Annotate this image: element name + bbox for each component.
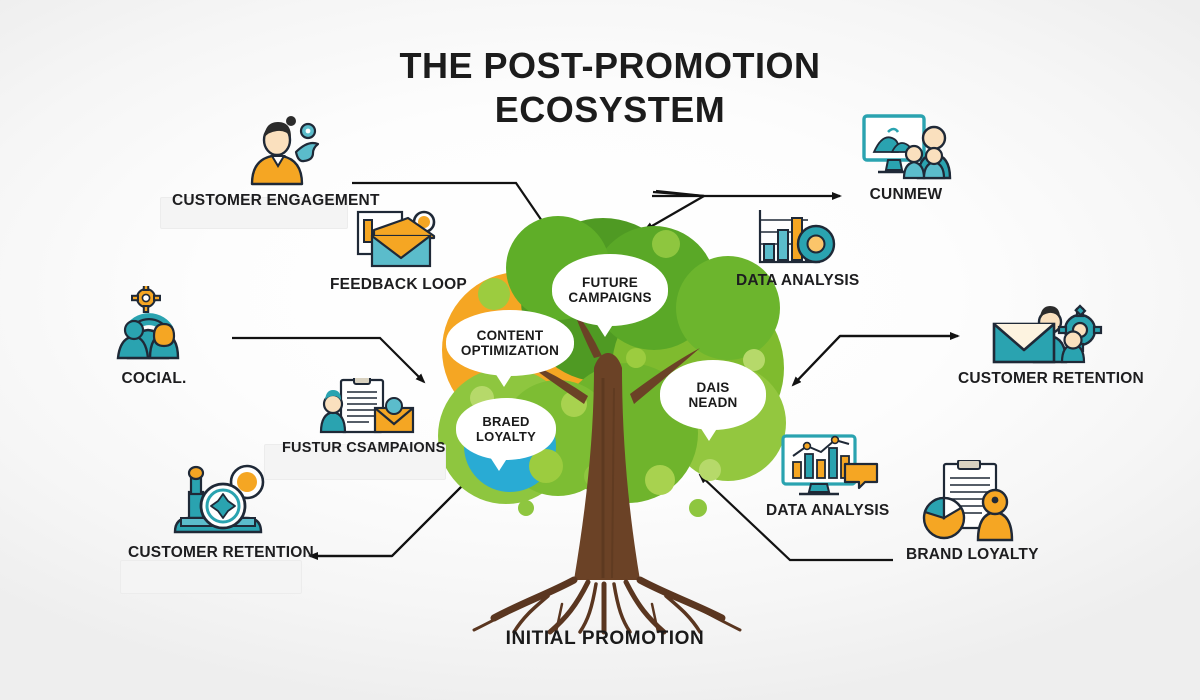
node-label: CUNMEW: [870, 186, 943, 204]
envelope-search-icon: [350, 208, 446, 272]
clipboard-mail-icon: [299, 378, 429, 436]
node-future-campaigns[interactable]: FUSTUR CSAMPAIONS: [282, 378, 445, 456]
node-data-analysis-bottom[interactable]: DATA ANALYSIS: [766, 434, 889, 520]
arrow-tree-to-cunmew: [652, 188, 840, 197]
node-label: CUSTOMER RETENTION: [128, 544, 314, 562]
bubble-brand-loyalty: BRAED LOYALTY: [456, 398, 556, 460]
node-brand-loyalty[interactable]: BRAND LOYALTY: [906, 460, 1039, 564]
node-label: DATA ANALYSIS: [766, 502, 889, 520]
people-gear-icon: [106, 286, 202, 366]
bubble-data-needs: DAIS NEADN: [660, 360, 766, 430]
ghost-panel: [120, 560, 302, 594]
node-customer-retention-right[interactable]: CUSTOMER RETENTION: [958, 300, 1144, 388]
node-label: FUSTUR CSAMPAIONS: [282, 440, 445, 456]
node-label: COCIAL.: [121, 370, 186, 388]
person-social-icon: [228, 112, 324, 188]
node-label: CUSTOMER RETENTION: [958, 370, 1144, 388]
node-label: BRAND LOYALTY: [906, 546, 1039, 564]
node-customer-retention-left[interactable]: CUSTOMER RETENTION: [128, 462, 314, 562]
node-feedback-loop[interactable]: FEEDBACK LOOP: [330, 208, 467, 294]
infographic-canvas: THE POST-PROMOTION ECOSYSTEM: [0, 0, 1200, 700]
monitor-chart-cursor-icon: [773, 434, 883, 498]
page-title: THE POST-PROMOTION ECOSYSTEM: [330, 44, 890, 132]
node-data-analysis-top[interactable]: DATA ANALYSIS: [736, 206, 859, 290]
initial-promotion-label: INITIAL PROMOTION: [440, 628, 770, 650]
node-label: FEEDBACK LOOP: [330, 276, 467, 294]
arrow-cocial-to-tree: [232, 338, 424, 382]
bubble-future-campaigns: FUTURE CAMPAIGNS: [552, 254, 668, 326]
bubble-content-optimization: CONTENT OPTIMIZATION: [446, 310, 574, 376]
mail-people-gear-icon: [976, 300, 1126, 366]
node-customer-engagement[interactable]: CUSTOMER ENGAGEMENT: [172, 112, 380, 210]
bar-chart-donut-icon: [750, 206, 846, 268]
machine-magnifier-icon: [161, 462, 281, 540]
node-cocial[interactable]: COCIAL.: [106, 286, 202, 388]
monitor-people-icon: [858, 110, 954, 182]
clipboard-pie-person-icon: [912, 460, 1032, 542]
node-label: DATA ANALYSIS: [736, 272, 859, 290]
node-cunmew[interactable]: CUNMEW: [858, 110, 954, 204]
